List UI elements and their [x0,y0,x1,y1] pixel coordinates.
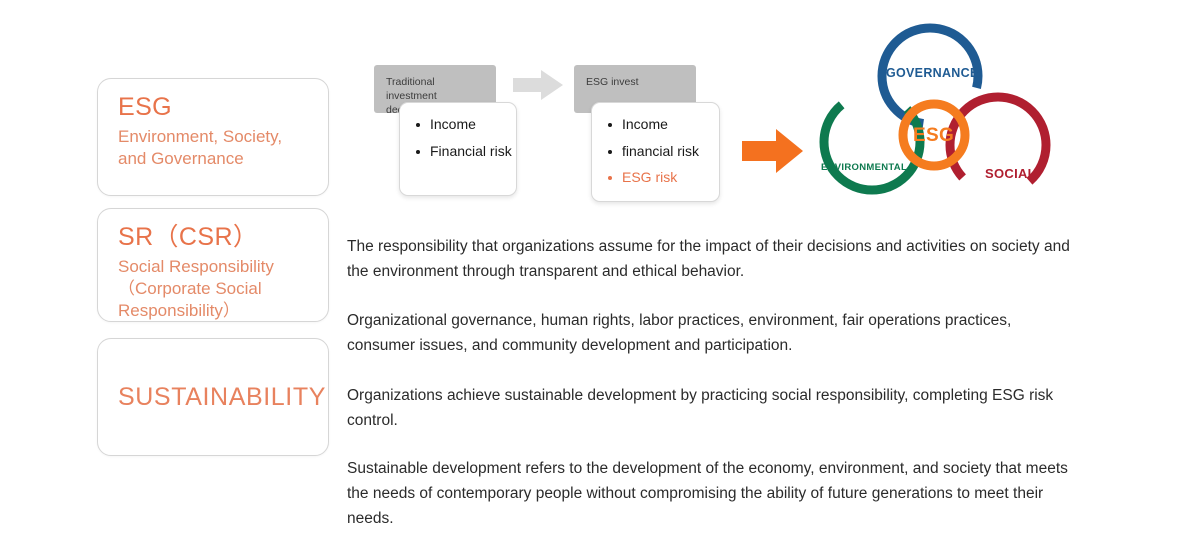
flow-list-traditional: Income Financial risk [414,117,502,158]
arrow-right-icon [513,68,565,102]
list-item: Income [414,117,502,132]
flow-list-esg: Income financial risk ESG risk [606,117,705,185]
paragraph-responsibility: The responsibility that organizations as… [347,234,1082,284]
concept-card-sr-subtitle: Social Responsibility （Corporate Social … [118,256,308,322]
paragraph-sustainable-development-definition: Sustainable development refers to the de… [347,456,1082,531]
esg-ring-diagram: GOVERNANCE ENVIRONMENTAL SOCIAL ESG [800,14,1090,206]
governance-label: GOVERNANCE [886,66,979,80]
environmental-label: ENVIRONMENTAL [821,162,907,173]
arrow-right-icon [742,126,804,176]
concept-card-sr-title: SR（CSR） [118,223,308,252]
social-label: SOCIAL [985,166,1036,181]
list-item: Financial risk [414,144,502,159]
concept-card-sr: SR（CSR） Social Responsibility （Corporate… [97,208,329,322]
list-item: Income [606,117,705,132]
concept-card-esg-title: ESG [118,93,308,122]
concept-card-esg-subtitle: Environment, Society, and Governance [118,126,308,170]
paragraph-core-subjects: Organizational governance, human rights,… [347,308,1082,358]
concept-card-sustainability-title: SUSTAINABILITY [118,383,326,412]
concept-card-esg: ESG Environment, Society, and Governance [97,78,329,196]
concept-card-sustainability: SUSTAINABILITY [97,338,329,456]
esg-ring-diagram-svg [800,14,1090,206]
list-item: ESG risk [606,170,705,185]
paragraph-sustainable-development-practice: Organizations achieve sustainable develo… [347,383,1082,433]
flow-box-traditional: Income Financial risk [399,102,517,196]
list-item: financial risk [606,144,705,159]
infographic-canvas: ESG Environment, Society, and Governance… [0,0,1200,538]
flow-box-esg-invest: Income financial risk ESG risk [591,102,720,202]
esg-center-label: ESG [913,125,954,147]
